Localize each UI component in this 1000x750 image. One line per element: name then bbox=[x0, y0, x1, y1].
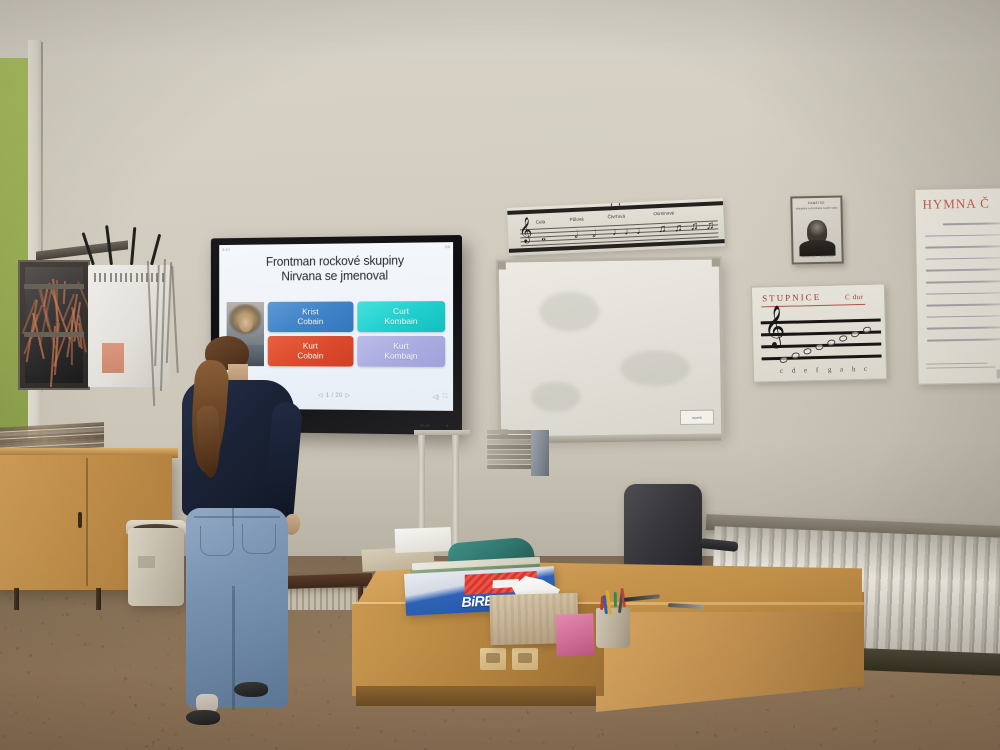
scale-note-c1: c bbox=[780, 367, 783, 375]
hymna-title: HYMNA Č bbox=[922, 196, 990, 213]
stupnice-key: C dur bbox=[845, 293, 863, 301]
student-shoe-right bbox=[234, 682, 268, 697]
portrait-shoulders bbox=[799, 240, 835, 257]
answer-2-line2: Kombain bbox=[384, 317, 417, 326]
cabinet-leg-right bbox=[96, 588, 101, 610]
cabinet-handle[interactable] bbox=[78, 512, 82, 528]
cabinet-door-gap bbox=[86, 458, 88, 586]
slide-nav-center: ◁ 1 / 20 ▷ bbox=[318, 392, 350, 399]
quiz-question: Frontman rockové skupiny Nirvana se jmen… bbox=[225, 253, 447, 284]
router-label bbox=[102, 343, 124, 373]
scale-note-c2: c bbox=[864, 365, 867, 373]
display-brand-right: touch bbox=[420, 423, 431, 427]
next-slide-button[interactable]: ▷ bbox=[345, 392, 350, 399]
cabinet-leg-left bbox=[14, 588, 19, 610]
question-line-2: Nirvana se jmenoval bbox=[225, 268, 447, 284]
whiteboard-corner-tl bbox=[498, 261, 506, 269]
answer-1-line2: Cobain bbox=[297, 317, 323, 326]
scale-note-h: h bbox=[852, 365, 856, 373]
pink-box bbox=[555, 613, 594, 656]
prev-slide-button[interactable]: ◁ bbox=[318, 392, 323, 399]
scale-note-e: e bbox=[804, 366, 807, 374]
loose-papers bbox=[395, 527, 452, 553]
portrait-title: PAMÁTCE bbox=[792, 201, 840, 206]
network-equipment bbox=[18, 243, 168, 398]
pen-holder bbox=[596, 608, 630, 648]
student bbox=[176, 336, 300, 750]
note-label-quarter: Čtvrťová bbox=[607, 214, 625, 220]
stupnice-title: STUPNICE bbox=[762, 292, 821, 303]
power-socket-right[interactable] bbox=[512, 648, 538, 670]
slide-counter: 1 / 20 bbox=[326, 392, 343, 398]
stupnice-poster: STUPNICE C dur 𝄞 c d e f g a h c bbox=[751, 283, 887, 382]
treble-clef-icon: 𝄞 bbox=[519, 219, 533, 242]
display-mount-crossbar bbox=[414, 430, 470, 435]
answer-option-4[interactable]: Kurt Kombajn bbox=[357, 336, 445, 367]
note-label-whole: Celá bbox=[536, 219, 546, 224]
volume-icon[interactable]: ◁) bbox=[433, 394, 440, 401]
desk-kick-panel bbox=[356, 686, 596, 706]
hymna-seal bbox=[996, 369, 1000, 378]
answer-4-line2: Kombajn bbox=[384, 351, 417, 360]
answer-option-1[interactable]: Krist Cobain bbox=[268, 302, 354, 333]
hymna-lyrics bbox=[925, 222, 1000, 351]
answer-3-line2: Cobain bbox=[297, 351, 323, 360]
photo-face bbox=[239, 315, 253, 332]
scale-note-f: f bbox=[816, 366, 819, 374]
whiteboard-corner-tr bbox=[712, 258, 720, 266]
whiteboard-note: rozvrh bbox=[680, 410, 714, 425]
portrait-footer: narozen 1824 — zemřel 1884 bbox=[797, 255, 839, 259]
scale-note-a: a bbox=[840, 365, 843, 373]
ir-sensor bbox=[446, 424, 448, 427]
pen-4 bbox=[614, 592, 617, 607]
student-jeans bbox=[186, 508, 288, 708]
display-mount-post-right bbox=[452, 432, 459, 558]
student-shoe-left bbox=[186, 710, 220, 725]
hymna-poster: HYMNA Č bbox=[914, 187, 1000, 385]
upright-folder bbox=[531, 430, 549, 476]
slide-timer: 3:41 bbox=[222, 247, 230, 252]
framed-portrait: PAMÁTCE skladatele a sbormistra české hu… bbox=[790, 195, 843, 264]
scale-note-d: d bbox=[792, 367, 796, 375]
fullscreen-icon[interactable]: ⛶ bbox=[443, 394, 447, 401]
whiteboard[interactable]: rozvrh bbox=[496, 256, 724, 439]
power-socket-left[interactable] bbox=[480, 648, 506, 670]
classroom-scene: 3:41 2/8 Frontman rockové skupiny Nirvan… bbox=[0, 0, 1000, 750]
stupnice-clef-icon: 𝄞 bbox=[763, 308, 785, 345]
network-patch-cabinet bbox=[18, 260, 90, 390]
note-values-banner: 𝄞 Celá Půlová Čtvrťová Osminové 𝅝 𝅗𝅥 𝅗𝅥 … bbox=[507, 198, 725, 256]
answer-option-2[interactable]: Curt Kombain bbox=[357, 301, 445, 332]
note-label-half: Půlová bbox=[570, 216, 584, 222]
slide-nav-right: ◁) ⛶ bbox=[433, 394, 448, 401]
portrait-subtitle: skladatele a sbormistra české hudby bbox=[796, 207, 838, 212]
note-label-eighth: Osminové bbox=[653, 210, 674, 216]
slide-counter-badge: 2/8 bbox=[445, 244, 450, 249]
book-stack bbox=[487, 430, 549, 476]
hymna-footer bbox=[926, 362, 1000, 372]
scale-note-g: g bbox=[828, 366, 832, 374]
bin-label bbox=[138, 556, 155, 568]
